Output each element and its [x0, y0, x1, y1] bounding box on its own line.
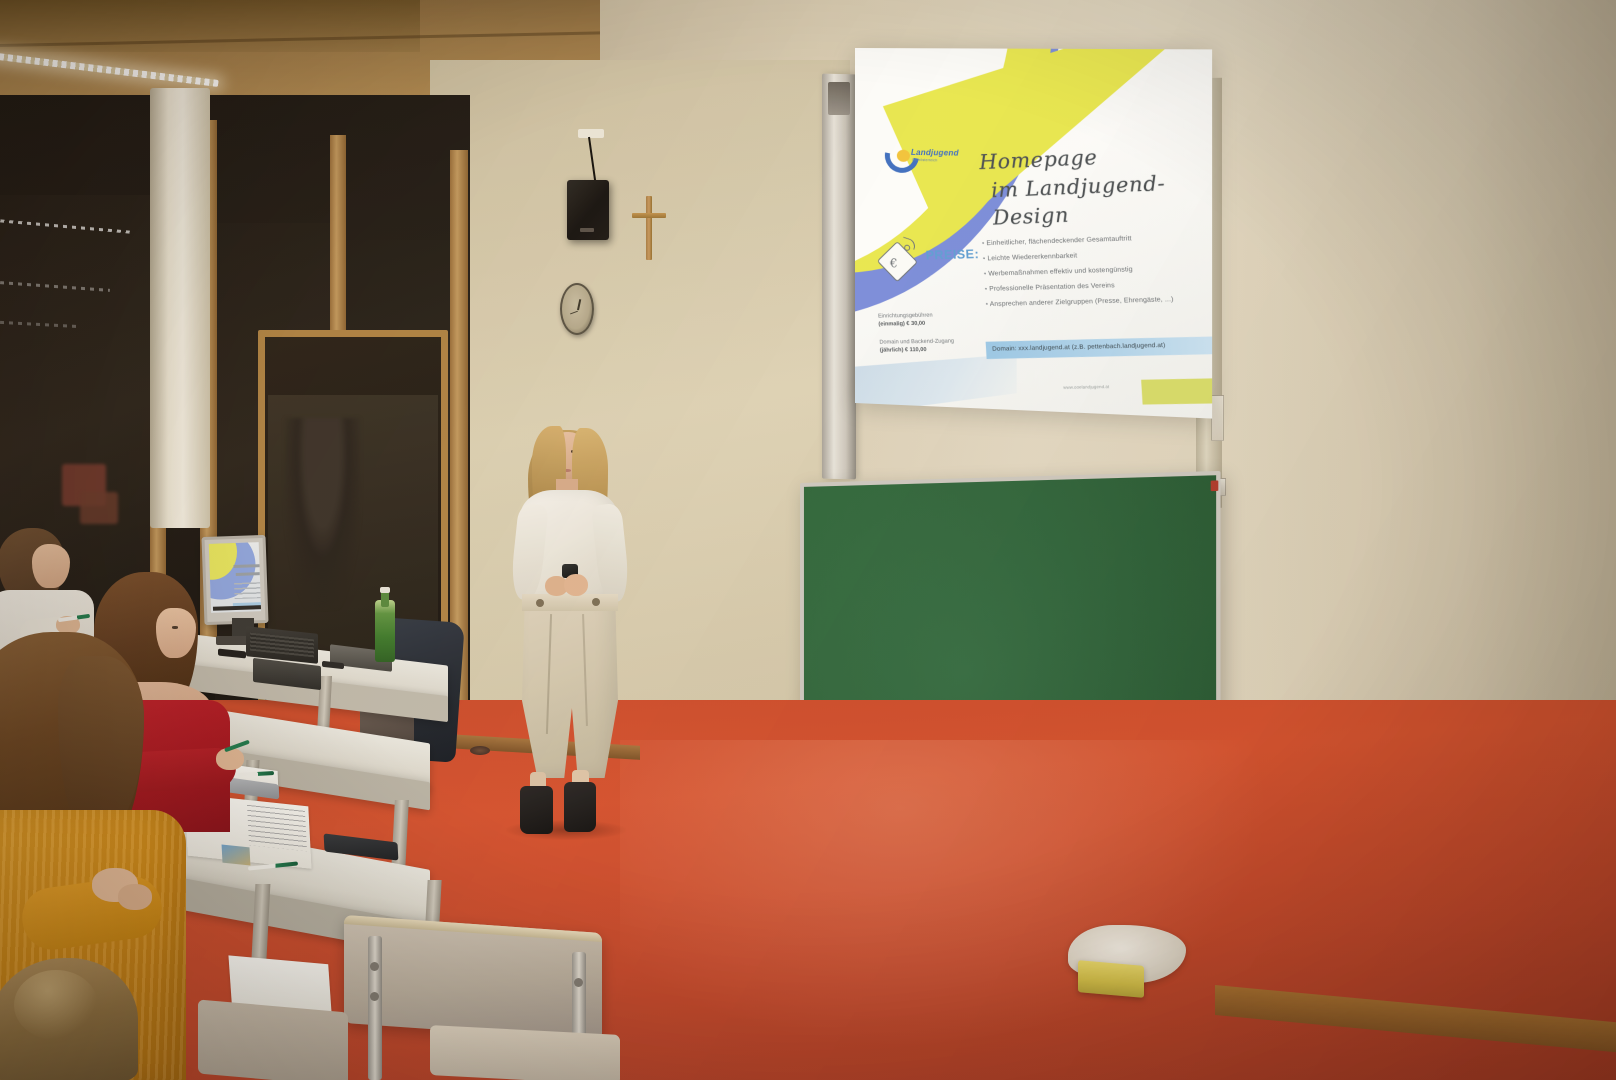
bottle-neck: [381, 591, 389, 607]
projected-slide: Landjugend Oberösterreich Homepage im La…: [855, 48, 1212, 419]
support-column: [150, 88, 210, 528]
floor-marking: [470, 746, 490, 755]
background-chair: [80, 492, 118, 524]
cross-vertical: [646, 196, 652, 260]
brochure-image: [222, 844, 251, 865]
glass-bottle[interactable]: [375, 600, 395, 662]
slide-bullet-list: Einheitlicher, flächendeckender Gesamtau…: [982, 232, 1212, 316]
slide-price-list: Einrichtungsgebühren (einmalig) € 30,00 …: [878, 312, 986, 355]
slide-bullet: Einheitlicher, flächendeckender Gesamtau…: [982, 232, 1212, 248]
chair-seat[interactable]: [430, 1025, 620, 1080]
trouser-button: [592, 598, 600, 606]
cross-icon: [632, 196, 666, 260]
trouser-button: [536, 599, 544, 607]
floor-reflection: [620, 740, 1320, 1080]
clock-icon: [560, 283, 594, 335]
classroom-scene: Landjugend Oberösterreich Homepage im La…: [0, 0, 1616, 1080]
bottle-cap: [380, 587, 390, 593]
slide-title-line2: im Landjugend-Design: [990, 167, 1212, 233]
logo-subtitle: Oberösterreich: [912, 158, 937, 162]
slide-footer-url: www.ooelandjugend.at: [1063, 384, 1109, 390]
screen-bracket: [828, 82, 850, 115]
presenter-boot: [520, 786, 553, 834]
chair-bolt: [574, 978, 583, 987]
slide-bullet: Ansprechen anderer Zielgruppen (Presse, …: [985, 294, 1212, 308]
cross-horizontal: [632, 213, 666, 218]
slide-bullet: Professionelle Präsentation des Vereins: [985, 278, 1213, 293]
screen-rail-left: [822, 74, 856, 480]
euro-symbol-icon: €: [890, 256, 898, 270]
background-person-silhouette: [285, 418, 360, 608]
clock-hand-hour: [577, 299, 581, 310]
landjugend-logo: Landjugend Oberösterreich: [885, 136, 941, 177]
ceiling-mount: [578, 129, 604, 138]
attendee-hair-strand: [58, 656, 144, 826]
speaker-logo: [580, 228, 594, 232]
slide-title-line1: Homepage: [979, 145, 1099, 175]
slide-domain-bar: Domain: xxx.landjugend.at (z.B. pettenba…: [986, 336, 1212, 359]
monitor-slide-title: [233, 564, 261, 568]
chair-frame: [368, 936, 382, 1080]
presenter-boot: [564, 782, 596, 832]
attendee-hair-highlight: [14, 970, 98, 1040]
slide-title: Homepage im Landjugend-Design: [978, 138, 1212, 233]
prices-heading: PREISE:: [925, 247, 979, 263]
slide-bullet: Werbemaßnahmen effektiv und kostengünsti…: [984, 263, 1212, 278]
brochure-text: [247, 805, 307, 851]
attendee-hand: [118, 884, 152, 910]
logo-dot-icon: [897, 150, 910, 162]
attendee-eye: [172, 626, 178, 629]
clock-hand-minute: [570, 311, 578, 315]
chalkboard-clip: [1211, 480, 1219, 491]
logo-name: Landjugend: [911, 148, 959, 158]
attendee-hand: [216, 748, 244, 770]
slide-footer-block: [1141, 378, 1212, 404]
price-tag-icon: €: [877, 238, 923, 285]
presenter-hand: [564, 574, 588, 596]
chair-bolt: [370, 992, 379, 1001]
presenter-trousers: [522, 594, 618, 778]
chalk-sponge[interactable]: [1078, 960, 1144, 998]
slide-domain-note: Domain: xxx.landjugend.at (z.B. pettenba…: [992, 342, 1166, 353]
chair-bolt: [370, 962, 379, 971]
attendee-face: [32, 544, 70, 588]
slide-bullet: Leichte Wiedererkennbarkeit: [983, 247, 1212, 262]
equipment-label: [1211, 395, 1224, 441]
presenter: [492, 424, 652, 840]
chair[interactable]: [198, 999, 348, 1080]
price-value: (jährlich) € 110,00: [880, 346, 986, 355]
